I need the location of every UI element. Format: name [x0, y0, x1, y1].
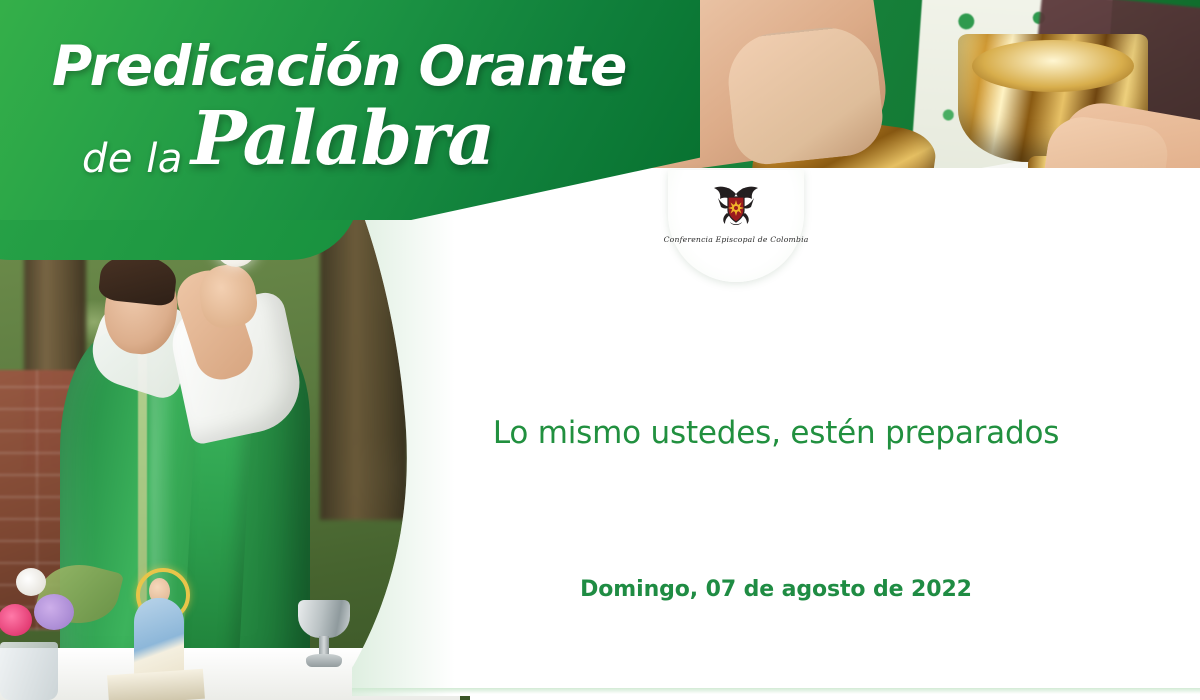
banner-title-palabra: Palabra: [191, 96, 493, 182]
left-hand-fingers: [724, 23, 887, 168]
logo-caption: Conferencia Episcopal de Colombia: [664, 235, 809, 244]
episcopal-eagle-crest-icon: [708, 184, 764, 232]
banner-title-line2: de laPalabra: [82, 96, 493, 182]
header-banner-text: Predicación Orante de laPalabra: [0, 0, 700, 230]
predicacion-orante-poster: Predicación Orante de laPalabra: [0, 0, 1200, 700]
reflection-title: Lo mismo ustedes, estén preparados: [352, 415, 1200, 451]
reflection-date: Domingo, 07 de agosto de 2022: [352, 577, 1200, 602]
banner-title-line1: Predicación Orante: [52, 34, 626, 98]
missal-book: [107, 669, 205, 700]
silver-chalice-icon: [298, 600, 350, 670]
flower-arrangement: [0, 560, 124, 700]
banner-title-dela: de la: [82, 136, 183, 182]
panel-bottom-accent-line: [352, 688, 1200, 694]
